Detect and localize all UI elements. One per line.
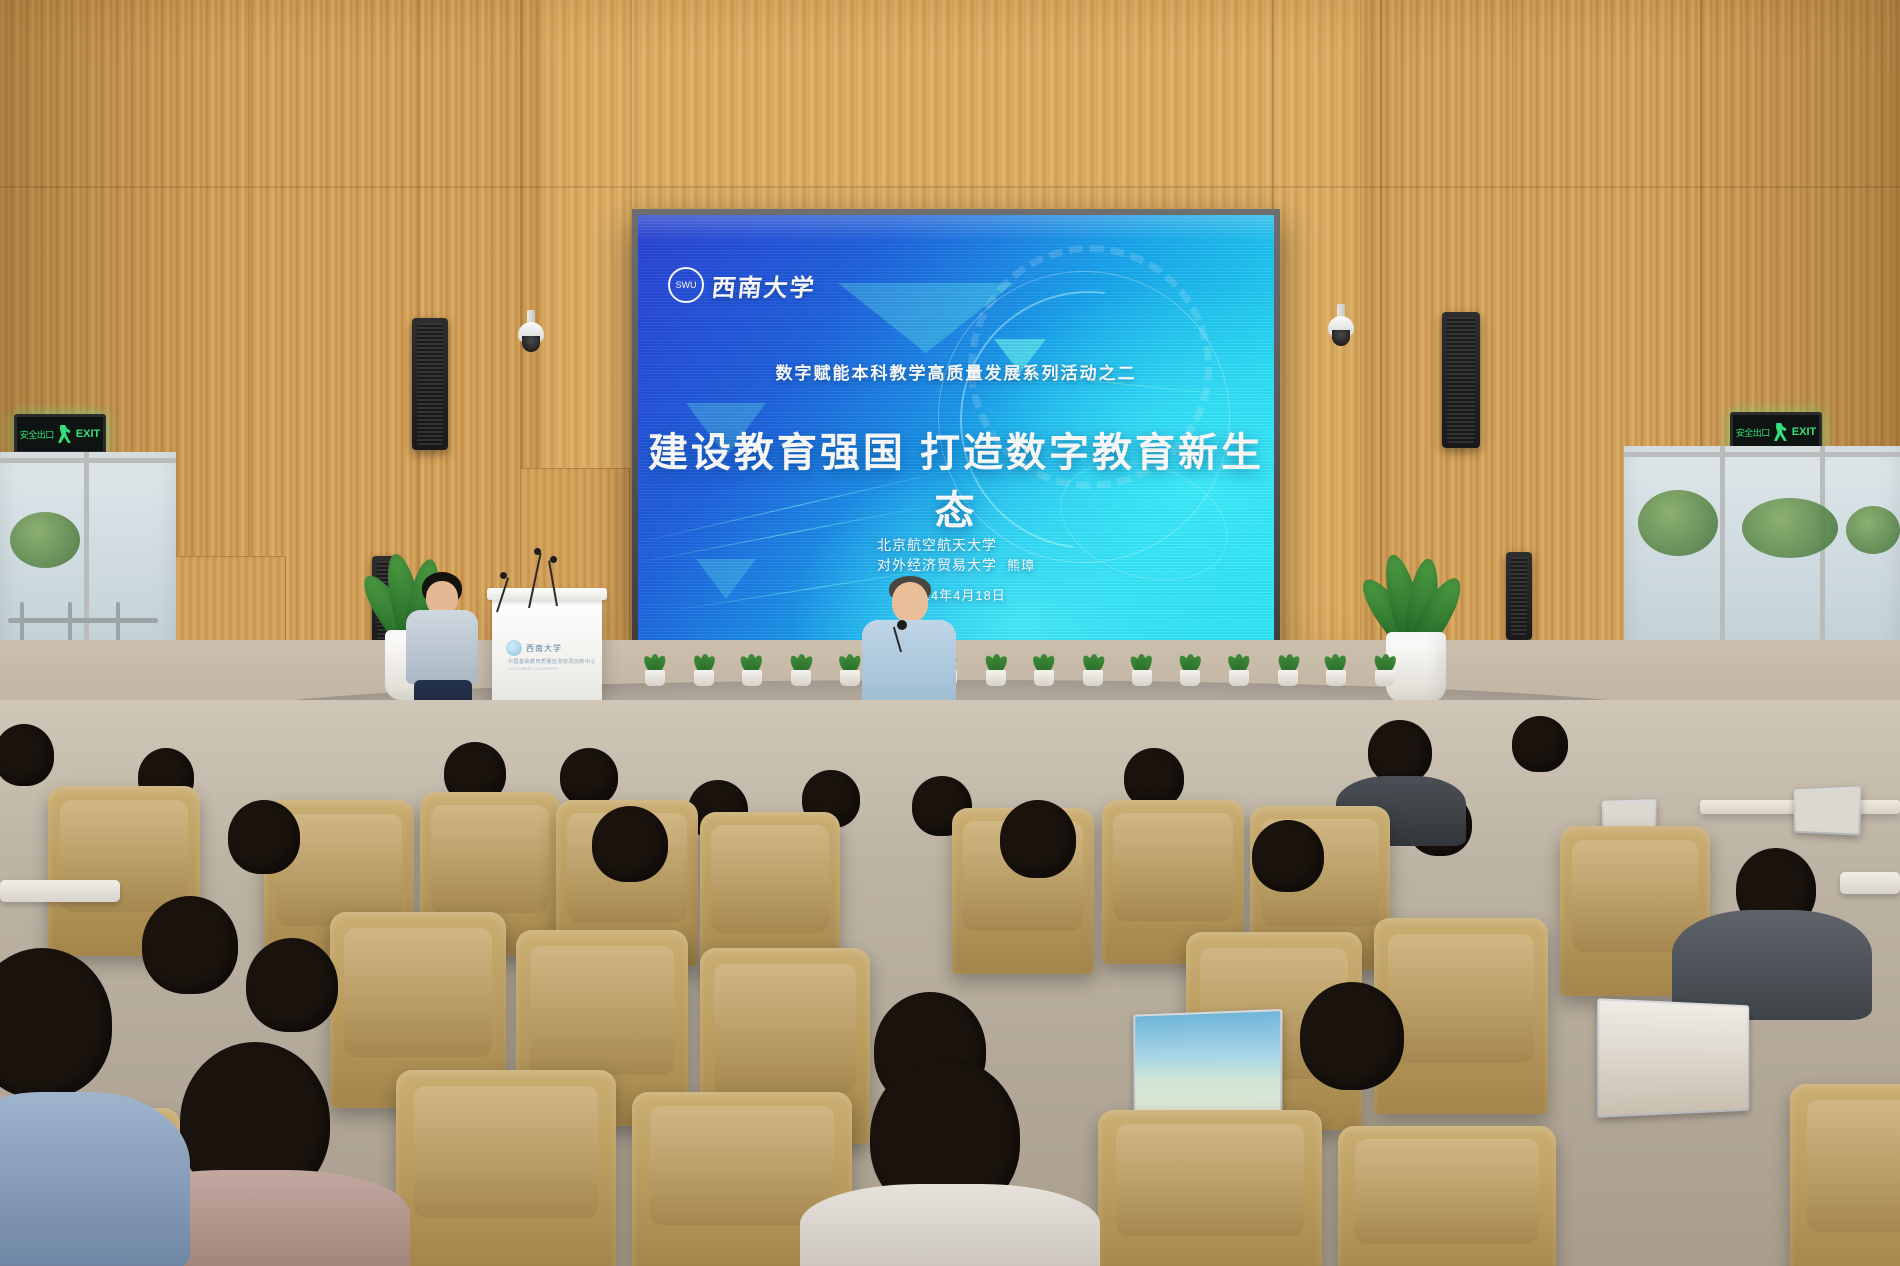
potted-plant [835, 654, 865, 686]
audience-head [592, 806, 668, 882]
audience-shoulders [0, 1092, 190, 1266]
potted-plant [640, 654, 670, 686]
exit-sign-left: 安全出口 EXIT [14, 414, 106, 454]
slide-logo-text: 西南大学 [710, 268, 818, 303]
audience-head [1252, 820, 1324, 892]
screen-top-glow [638, 215, 1274, 241]
slide-university-logo: SWU 西南大学 [668, 267, 816, 303]
chair-armrest [1840, 872, 1900, 894]
podium-microphone-head [500, 572, 507, 579]
potted-plant [689, 654, 719, 686]
audience-head [560, 748, 618, 806]
potted-plant [1078, 654, 1108, 686]
audience-head [228, 800, 300, 874]
audience-head [1124, 748, 1184, 808]
audience-chair[interactable] [1098, 1110, 1322, 1266]
podium-dept-line: 中国基础教育质量监测协同创新中心 [508, 658, 596, 665]
wall-speaker [1506, 552, 1532, 640]
wall-speaker [412, 318, 448, 450]
audience-head [0, 724, 54, 786]
university-emblem-icon: SWU [668, 267, 704, 303]
audience-head [1300, 982, 1404, 1090]
audience-head [1000, 800, 1076, 878]
potted-plant [1127, 654, 1157, 686]
ptz-camera-right [1328, 304, 1354, 350]
podium-sub-line: SOUTHWEST UNIVERSITY [508, 667, 558, 671]
handheld-microphone-head [897, 620, 907, 630]
wall-seam [520, 186, 1380, 188]
slide-credits: 北京航空航天大学 对外经济贸易大学 熊璋 2024年4月18日 [638, 535, 1274, 604]
exit-sign-en-label: EXIT [76, 428, 100, 440]
potted-plant [786, 654, 816, 686]
wall-speaker [1442, 312, 1480, 448]
wall-seam [0, 186, 520, 188]
slide-surface: SWU 西南大学 数字赋能本科教学高质量发展系列活动之二 建设教育强国 打造数字… [638, 215, 1274, 647]
exit-sign-cn-label: 安全出口 [1736, 426, 1770, 439]
audience-head [246, 938, 338, 1032]
audience-head [142, 896, 238, 994]
running-person-icon [1773, 423, 1789, 441]
lecture-hall-photo: 安全出口 EXIT 安全出口 EXIT [0, 0, 1900, 1266]
potted-plant [1321, 654, 1351, 686]
podium-logo: 西南大学 [506, 640, 562, 656]
slide-speaker-name: 熊璋 [1007, 555, 1035, 576]
chair-armrest [0, 880, 120, 902]
potted-plant [737, 654, 767, 686]
potted-plant [1029, 654, 1059, 686]
slide-title: 建设教育强国 打造数字教育新生态 [638, 420, 1274, 536]
slide-decor-triangle [838, 283, 1014, 353]
wall-seam [1380, 186, 1900, 188]
audience-chair[interactable] [1338, 1126, 1556, 1266]
audience-head [1368, 720, 1432, 784]
running-person-icon [57, 425, 73, 443]
potted-plant [1370, 654, 1400, 686]
audience-chair[interactable] [1790, 1084, 1900, 1266]
stage-potted-plant-row [640, 640, 1400, 686]
slide-affiliation-2: 对外经济贸易大学 [877, 555, 997, 575]
podium-microphone-head [550, 556, 557, 563]
university-emblem-icon [506, 640, 522, 656]
potted-plant [1224, 654, 1254, 686]
slide-affiliation-1: 北京航空航天大学 [877, 535, 997, 555]
podium-logo-text: 西南大学 [526, 643, 562, 654]
exit-sign-en-label: EXIT [1792, 426, 1816, 438]
audience-shoulders [800, 1184, 1100, 1266]
ptz-camera-left [518, 310, 544, 356]
slide-subtitle: 数字赋能本科教学高质量发展系列活动之二 [638, 359, 1274, 384]
potted-plant [1273, 654, 1303, 686]
podium-microphone-head [534, 548, 541, 555]
potted-plant [981, 654, 1011, 686]
potted-plant [1175, 654, 1205, 686]
exit-sign-cn-label: 安全出口 [20, 428, 54, 441]
audience-chair[interactable] [396, 1070, 616, 1266]
led-presentation-screen[interactable]: SWU 西南大学 数字赋能本科教学高质量发展系列活动之二 建设教育强国 打造数字… [632, 209, 1280, 653]
audience-head [1512, 716, 1568, 772]
